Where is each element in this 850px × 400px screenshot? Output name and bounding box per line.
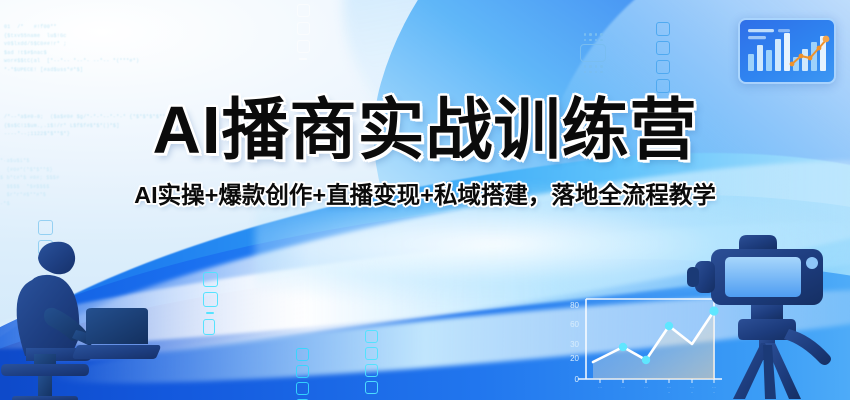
promo-banner: 01 /* #!f00** {$txv55name lu$!Gc v0$lxdd… [0,0,850,400]
svg-text:0: 0 [575,375,580,384]
svg-text:···: ··· [598,385,602,390]
page-title: AI播商实战训练营 [0,96,850,166]
decor-squares-mid-wave [365,330,378,394]
svg-text:···: ··· [644,385,648,390]
circuit-chip-icon [580,30,606,76]
decor-squares-left-wave [203,272,218,335]
svg-text:··: ·· [668,390,671,395]
analytics-bar-chart-icon [738,18,836,84]
decor-code-text-one: 01 /* #!f00** {$txv55name lu$!Gc v0$lxdd… [4,23,174,74]
svg-text:80: 80 [570,301,579,310]
decor-squares-right-top [656,22,670,93]
svg-text:20: 20 [570,354,579,363]
decor-squares-mid-top [297,4,310,60]
svg-text:30: 30 [570,340,579,349]
svg-text:···: ··· [621,385,625,390]
decor-squares-mid-bottom [296,348,309,400]
svg-text:60: 60 [570,320,579,329]
page-subtitle: AI实操+爆款创作+直播变现+私域搭建，落地全流程教学 [0,176,850,210]
headline-block: AI播商实战训练营 AI实操+爆款创作+直播变现+私域搭建，落地全流程教学 [0,96,850,210]
chart-y-tick-labels: 80 60 30 20 0 [570,301,579,384]
camera-on-tripod-silhouette [681,225,850,400]
person-at-laptop-silhouette [0,230,176,400]
